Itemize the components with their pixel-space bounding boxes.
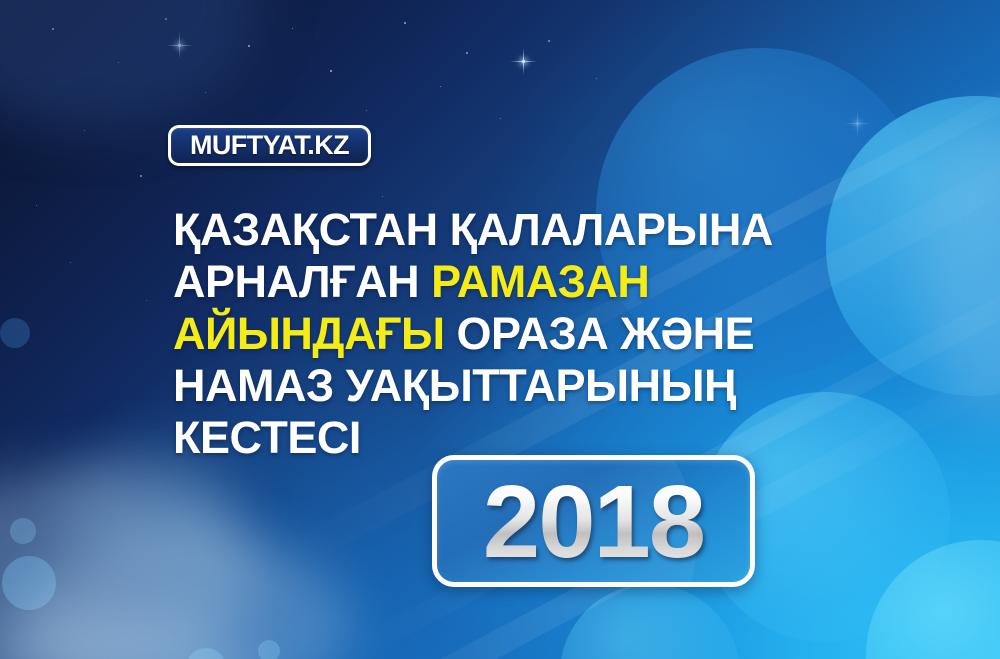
bright-star-icon xyxy=(178,44,181,47)
decor-circle-small-left-d xyxy=(186,648,226,659)
headline-line-1-text: ҚАЗАҚСТАН ҚАЛАЛАРЫНА xyxy=(173,204,773,255)
cloud-wash-right-edge xyxy=(922,120,1000,420)
muftyat-kz-logo-text: MUFTYAT.KZ xyxy=(190,130,349,161)
cloud-wash-b xyxy=(20,530,350,659)
decor-circle-small-left-e xyxy=(258,640,280,659)
bright-star-icon xyxy=(856,122,859,125)
muftyat-kz-logo-badge[interactable]: MUFTYAT.KZ xyxy=(168,125,371,166)
year-badge-text: 2018 xyxy=(483,470,704,573)
headline-line-3-accent: АЙЫНДАҒЫ xyxy=(173,308,445,359)
cloud-wash-top-left xyxy=(0,0,260,130)
decor-circle-small-left-a xyxy=(2,556,56,610)
year-badge: 2018 xyxy=(432,455,755,587)
headline-line-5-text: КЕСТЕСІ xyxy=(173,412,361,463)
headline-block: ҚАЗАҚСТАН ҚАЛАЛАРЫНА АРНАЛҒАН РАМАЗАН АЙ… xyxy=(173,204,873,464)
ramadan-2018-banner: MUFTYAT.KZ ҚАЗАҚСТАН ҚАЛАЛАРЫНА АРНАЛҒАН… xyxy=(0,0,1000,659)
headline-line-1: ҚАЗАҚСТАН ҚАЛАЛАРЫНА xyxy=(173,204,873,256)
bright-star-icon xyxy=(522,60,525,63)
headline-line-4: НАМАЗ УАҚЫТТАРЫНЫҢ xyxy=(173,360,873,412)
cloud-wash-d xyxy=(60,448,240,568)
headline-line-2-accent: РАМАЗАН xyxy=(431,256,649,307)
decor-circle-small-left-b xyxy=(10,518,36,544)
headline-line-3: АЙЫНДАҒЫ ОРАЗА ЖӘНЕ xyxy=(173,308,873,360)
headline-line-4-text: НАМАЗ УАҚЫТТАРЫНЫҢ xyxy=(173,360,736,411)
decor-circle-bottom-right-b xyxy=(866,540,1000,659)
cloud-wash-a xyxy=(0,470,260,659)
decor-circle-small-left-c xyxy=(0,318,30,348)
headline-line-2-plain: АРНАЛҒАН xyxy=(173,256,419,307)
headline-line-2: АРНАЛҒАН РАМАЗАН xyxy=(173,256,873,308)
decor-circle-bottom-center xyxy=(560,584,740,659)
cloud-wash-c xyxy=(0,612,260,659)
headline-line-3-plain: ОРАЗА ЖӘНЕ xyxy=(457,308,755,359)
